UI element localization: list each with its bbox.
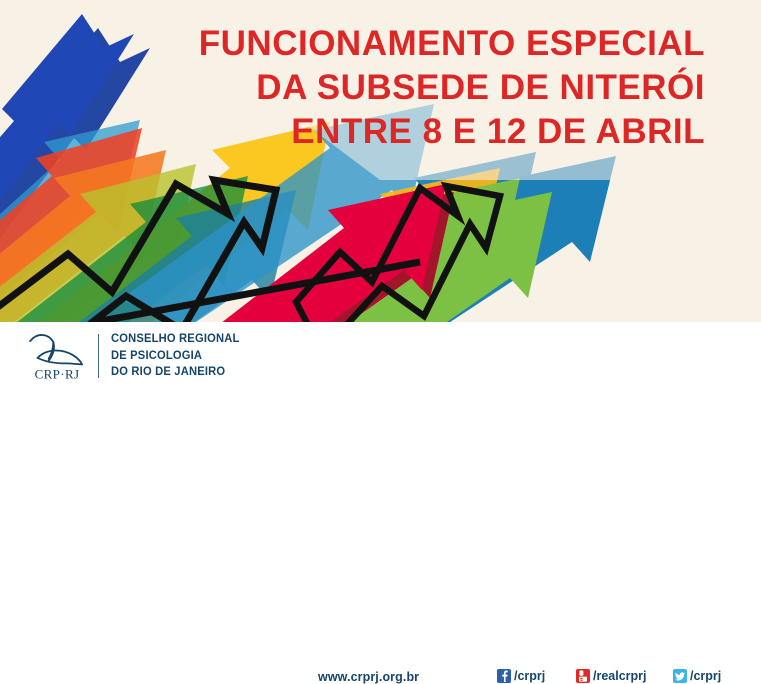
logo-divider — [98, 334, 99, 378]
org-line-2: DE PSICOLOGIA — [111, 348, 239, 365]
youtube-icon — [576, 669, 590, 683]
twitter-link[interactable]: /crprj — [673, 669, 721, 683]
page-title: FUNCIONAMENTO ESPECIAL DA SUBSEDE DE NIT… — [199, 22, 705, 154]
crp-rj-logo[interactable]: CRP·RJ CONSELHO REGIONAL DE PSICOLOGIA D… — [24, 330, 243, 382]
org-line-3: DO RIO DE JANEIRO — [111, 364, 239, 381]
headline-line-3: ENTRE 8 E 12 DE ABRIL — [199, 110, 705, 154]
footer: CRP·RJ CONSELHO REGIONAL DE PSICOLOGIA D… — [0, 322, 761, 400]
youtube-link[interactable]: /realcrprj — [576, 669, 647, 683]
youtube-handle: /realcrprj — [593, 669, 647, 683]
banner: FUNCIONAMENTO ESPECIAL DA SUBSEDE DE NIT… — [0, 0, 761, 322]
facebook-handle: /crprj — [514, 669, 545, 683]
facebook-link[interactable]: /crprj — [497, 669, 545, 683]
organization-name: CONSELHO REGIONAL DE PSICOLOGIA DO RIO D… — [111, 331, 239, 381]
headline-line-2: DA SUBSEDE DE NITERÓI — [199, 66, 705, 110]
headline-line-1: FUNCIONAMENTO ESPECIAL — [199, 22, 705, 66]
twitter-icon — [673, 669, 687, 683]
website-link[interactable]: www.crprj.org.br — [318, 670, 419, 684]
crp-rj-dove-icon: CRP·RJ — [24, 330, 90, 382]
facebook-icon — [497, 669, 511, 683]
twitter-handle: /crprj — [690, 669, 721, 683]
crp-rj-wordmark: CRP·RJ — [35, 366, 80, 381]
org-line-1: CONSELHO REGIONAL — [111, 331, 239, 348]
